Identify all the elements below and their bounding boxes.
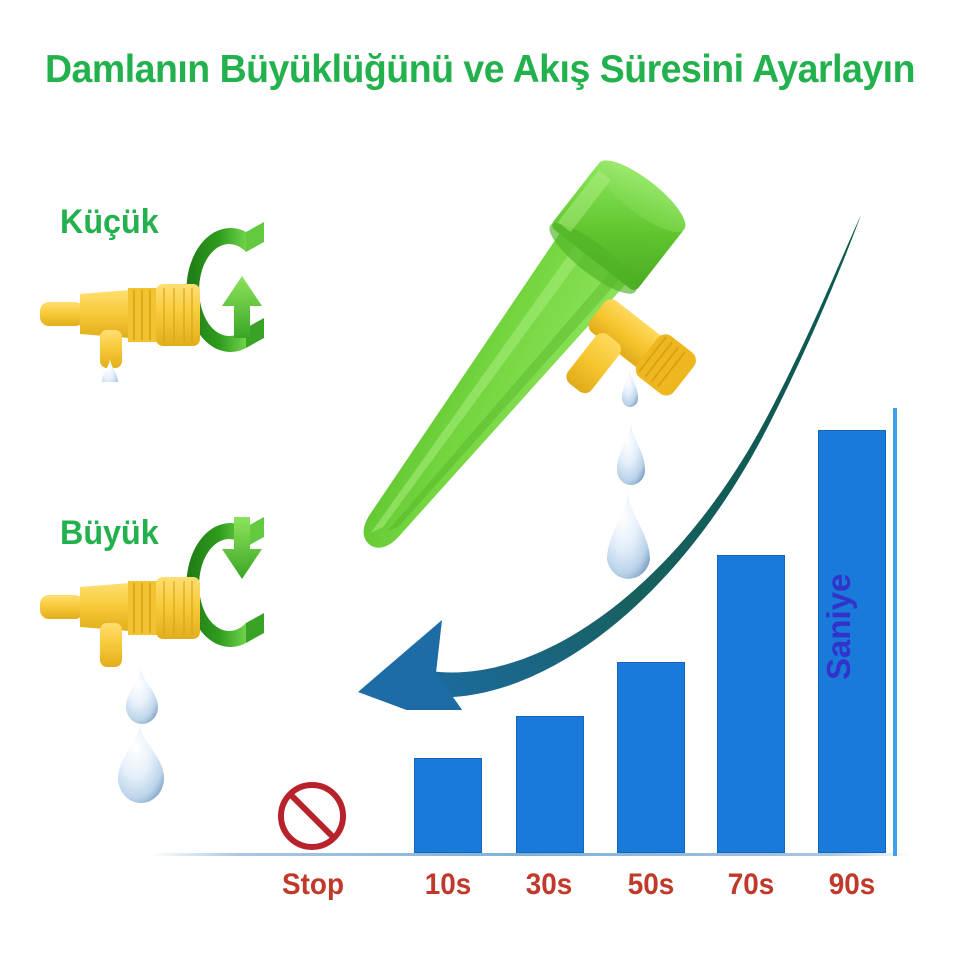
label-kucuk: Küçük bbox=[60, 203, 159, 242]
bar-10s bbox=[414, 758, 482, 853]
water-drop-large bbox=[108, 722, 178, 804]
cone-dripper-icon bbox=[330, 155, 760, 635]
bar-30s bbox=[516, 716, 584, 853]
prohibition-sign-icon bbox=[276, 780, 348, 852]
tick-label-10s: 10s bbox=[402, 868, 495, 902]
water-drop-medium bbox=[617, 423, 645, 485]
tick-label-stop: Stop bbox=[267, 868, 360, 902]
tick-label-30s: 30s bbox=[503, 868, 596, 902]
valve-small-icon bbox=[38, 272, 218, 382]
poster-canvas: Damlanın Büyüklüğünü ve Akış Süresini Ay… bbox=[0, 0, 960, 960]
chart-baseline bbox=[150, 853, 910, 856]
water-drop-medium bbox=[116, 663, 168, 725]
water-drop-small bbox=[622, 369, 638, 407]
tick-label-70s: 70s bbox=[705, 868, 798, 902]
valve-large-icon bbox=[38, 565, 218, 675]
label-buyuk: Büyük bbox=[60, 514, 159, 553]
tick-label-90s: 90s bbox=[806, 868, 899, 902]
tick-label-50s: 50s bbox=[605, 868, 698, 902]
water-drop-large bbox=[607, 491, 650, 579]
